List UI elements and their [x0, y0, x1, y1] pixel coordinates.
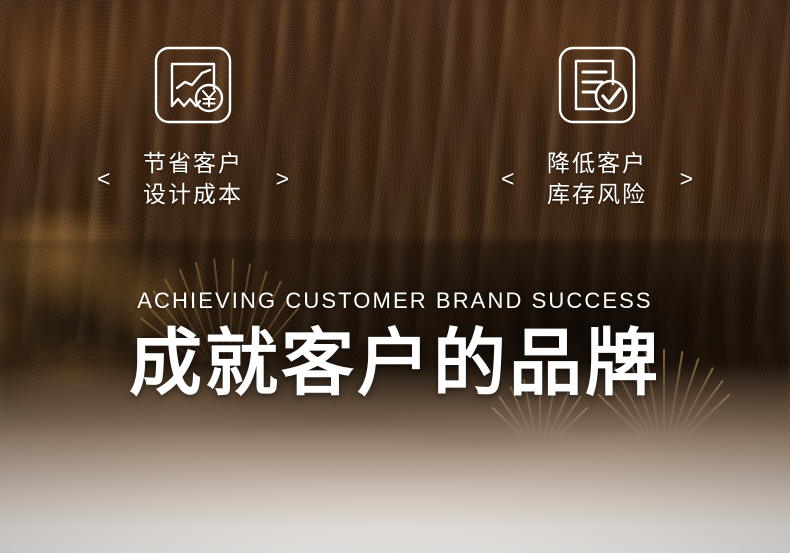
headline-block: ACHIEVING CUSTOMER BRAND SUCCESS 成就客户的品牌	[0, 288, 790, 404]
chevron-right-icon: >	[680, 168, 693, 191]
feature-item-inventory-risk: < 降低客户 库存风险 >	[499, 44, 695, 210]
feature-line-1: 节省客户	[143, 148, 243, 179]
feature-line-1: 降低客户	[547, 148, 647, 179]
chevron-left-icon: <	[501, 168, 514, 191]
feature-line-2: 设计成本	[143, 179, 243, 210]
chevron-left-icon: <	[97, 168, 110, 191]
feature-text-block: < 节省客户 设计成本 >	[95, 148, 291, 210]
feature-lines: 降低客户 库存风险	[547, 148, 647, 210]
document-check-icon	[556, 44, 638, 126]
feature-lines: 节省客户 设计成本	[143, 148, 243, 210]
feature-line-2: 库存风险	[547, 179, 647, 210]
feature-list: < 节省客户 设计成本 > < 降低客户 库存风险	[0, 44, 790, 210]
feature-item-design-cost: < 节省客户 设计成本 >	[95, 44, 291, 210]
feature-text-block: < 降低客户 库存风险 >	[499, 148, 695, 210]
headline-english: ACHIEVING CUSTOMER BRAND SUCCESS	[0, 288, 790, 314]
chevron-right-icon: >	[276, 168, 289, 191]
brand-banner: < 节省客户 设计成本 > < 降低客户 库存风险	[0, 0, 790, 553]
headline-chinese: 成就客户的品牌	[0, 324, 790, 404]
receipt-chart-yen-icon	[152, 44, 234, 126]
